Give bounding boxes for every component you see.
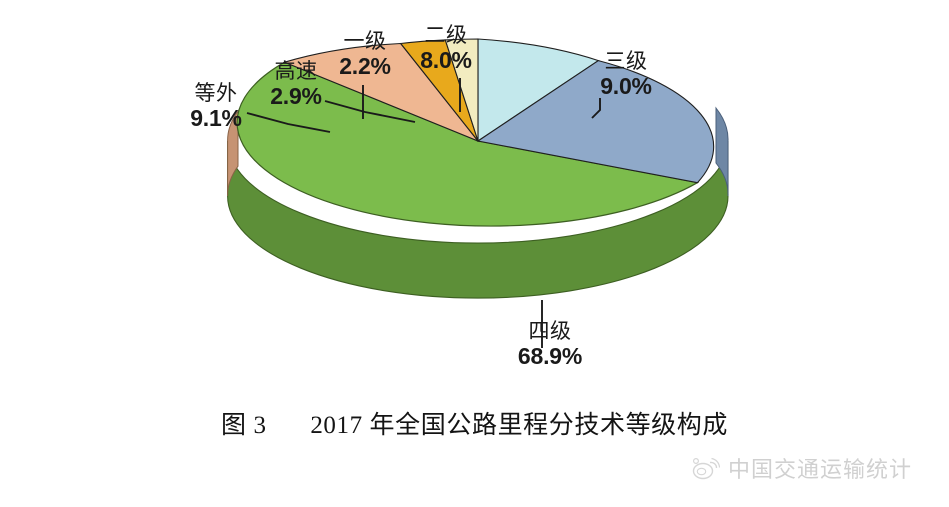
pie-label-dengwai-percent: 9.1%	[164, 106, 268, 132]
pie-label-gaosu-percent: 2.9%	[246, 84, 346, 110]
weibo-logo-icon	[690, 455, 720, 481]
figure-caption: 图 3 2017 年全国公路里程分技术等级构成	[0, 405, 949, 441]
pie-label-siji: 四级 68.9%	[498, 320, 602, 369]
pie-chart-figure: 等外 9.1% 高速 2.9% 一级 2.2% 二级 8.0% 三级 9.0% …	[0, 0, 949, 507]
pie-label-erji-name: 二级	[398, 24, 494, 48]
pie-label-sanji: 三级 9.0%	[578, 50, 674, 99]
watermark: 中国交通运输统计	[690, 452, 912, 484]
pie-label-sanji-percent: 9.0%	[578, 74, 674, 100]
pie-label-siji-name: 四级	[498, 320, 602, 344]
figure-caption-number: 图 3	[221, 412, 267, 439]
pie-label-erji-percent: 8.0%	[398, 48, 494, 74]
pie-label-erji: 二级 8.0%	[398, 24, 494, 73]
pie-label-sanji-name: 三级	[578, 50, 674, 74]
figure-caption-title: 2017 年全国公路里程分技术等级构成	[310, 412, 728, 439]
watermark-text: 中国交通运输统计	[728, 452, 912, 484]
pie-label-siji-percent: 68.9%	[498, 344, 602, 370]
